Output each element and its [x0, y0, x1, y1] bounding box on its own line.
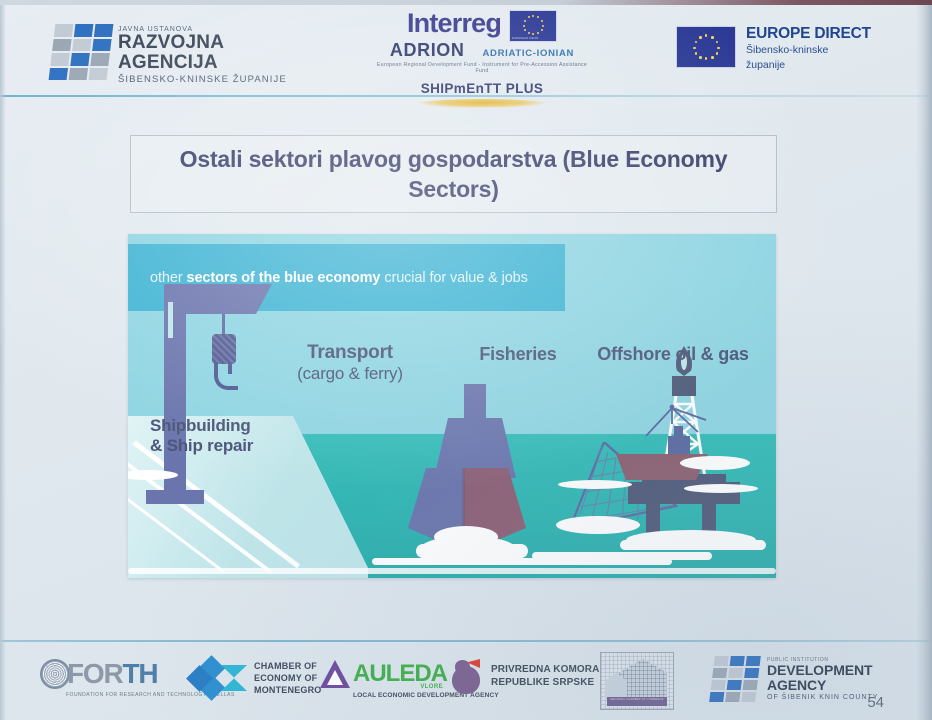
- coem-line3: MONTENEGRO: [254, 684, 322, 696]
- pkrs-line1: PRIVREDNA KOMORA: [491, 663, 599, 677]
- rig-foam: [620, 540, 766, 550]
- forth-wordmark: FORTH: [67, 658, 157, 690]
- coem-diamond-icon: [196, 656, 246, 700]
- logo-auleda: AULEDA VLORE LOCAL ECONOMIC DEVELOPMENT …: [320, 658, 447, 690]
- wave: [128, 568, 776, 574]
- house-icon: REGIONAL CHAMBER OF COMMERCE: [600, 652, 674, 710]
- adrion-wordmark: ADRION: [390, 40, 465, 61]
- label-shipbuilding-line1: Shipbuilding: [150, 416, 253, 436]
- net-foam: [556, 516, 640, 534]
- label-transport-sub: (cargo & ferry): [280, 364, 420, 384]
- fishing-boat-rigging: [610, 402, 720, 450]
- auleda-wordmark: AULEDA: [353, 662, 447, 686]
- development-agency-subline: OF ŠIBENIK KNIN COUNTY: [767, 694, 932, 701]
- pkrs-line2: REPUBLIKE SRPSKE: [491, 676, 599, 690]
- razvojna-agencija-name: RAZVOJNA AGENCIJA: [118, 33, 292, 73]
- europe-direct-title: EUROPE DIRECT: [746, 26, 871, 42]
- development-agency-grid-icon: [709, 656, 761, 702]
- logo-privredna-komora-republike-srpske: PRIVREDNA KOMORA REPUBLIKE SRPSKE: [452, 658, 599, 694]
- razvojna-agencija-subline: ŠIBENSKO-KNINSKE ŽUPANIJE: [118, 74, 292, 85]
- label-transport-main: Transport: [280, 342, 420, 364]
- europe-direct-subline-1: Šibensko-kninske: [746, 44, 871, 57]
- banner-suffix: crucial for value & jobs: [380, 270, 527, 286]
- label-fisheries: Fisheries: [458, 344, 578, 365]
- page-number: 54: [867, 694, 884, 711]
- house-caption-bar: REGIONAL CHAMBER OF COMMERCE: [607, 697, 667, 706]
- label-shipbuilding: Shipbuilding & Ship repair: [150, 416, 253, 456]
- eu-flag-icon: EUROPEAN UNION: [509, 10, 557, 42]
- presentation-slide: JAVNA USTANOVA RAZVOJNA AGENCIJA ŠIBENSK…: [0, 0, 932, 720]
- auleda-city: VLORE: [420, 684, 443, 690]
- fishing-boat-foam: [680, 456, 750, 470]
- coem-line2: ECONOMY OF: [254, 672, 322, 684]
- forth-word-part1: FOR: [67, 658, 123, 689]
- adriatic-ionian-label: ADRIATIC-IONIAN: [483, 48, 575, 59]
- header-divider: [0, 95, 932, 97]
- logo-interreg-adrion: Interreg EUROPEAN UNION ADRION ADRIATIC-…: [372, 10, 592, 96]
- label-transport: Transport (cargo & ferry): [280, 342, 420, 384]
- wave: [532, 552, 712, 560]
- label-offshore-oil-gas: Offshore oil & gas: [578, 344, 768, 365]
- house-caption: REGIONAL CHAMBER OF COMMERCE: [607, 697, 667, 701]
- logo-chamber-house-institute: REGIONAL CHAMBER OF COMMERCE: [600, 652, 674, 710]
- label-shipbuilding-line2: & Ship repair: [150, 436, 253, 456]
- europe-direct-subline-2: županije: [746, 59, 871, 72]
- slide-footer: FORTH FOUNDATION FOR RESEARCH AND TECHNO…: [0, 646, 932, 720]
- swoosh-icon: [417, 99, 547, 108]
- interreg-fund-line: European Regional Development Fund - Ins…: [372, 62, 592, 74]
- slide-title-box: Ostali sektori plavog gospodarstva (Blue…: [130, 135, 777, 213]
- blue-economy-illustration: other sectors of the blue economy crucia…: [128, 234, 776, 578]
- development-agency-name: DEVELOPMENT AGENCY: [767, 663, 932, 692]
- eu-flag-caption: EUROPEAN UNION: [512, 37, 538, 40]
- auleda-mountain-icon: [320, 658, 350, 690]
- screen-edge-left: [0, 0, 6, 720]
- page-title: Ostali sektori plavog gospodarstva (Blue…: [131, 144, 776, 205]
- logo-development-agency-sibenik-knin: PUBLIC INSTITUTION DEVELOPMENT AGENCY OF…: [712, 656, 932, 702]
- logo-forth: FORTH FOUNDATION FOR RESEARCH AND TECHNO…: [40, 658, 157, 690]
- banner-text: other sectors of the blue economy crucia…: [128, 270, 528, 286]
- forth-word-part2: TH: [123, 658, 158, 689]
- screen-edge-top: [0, 0, 932, 5]
- pkrs-bird-icon: [452, 658, 484, 694]
- screen-edge-right: [916, 0, 932, 720]
- eu-flag-icon: [676, 26, 736, 68]
- banner-prefix: other: [150, 270, 186, 286]
- wave: [684, 484, 758, 493]
- footer-divider: [0, 640, 932, 642]
- coem-line1: CHAMBER OF: [254, 660, 322, 672]
- logo-razvojna-agencija: JAVNA USTANOVA RAZVOJNA AGENCIJA ŠIBENSK…: [52, 22, 292, 82]
- logo-chamber-of-economy-of-montenegro: CHAMBER OF ECONOMY OF MONTENEGRO: [196, 656, 322, 700]
- wave: [558, 480, 632, 489]
- forth-globe-icon: [40, 659, 70, 689]
- razvojna-agencija-grid-icon: [49, 24, 114, 80]
- slide-header: JAVNA USTANOVA RAZVOJNA AGENCIJA ŠIBENSK…: [0, 4, 932, 96]
- banner-bold: sectors of the blue economy: [186, 270, 380, 286]
- coem-name: CHAMBER OF ECONOMY OF MONTENEGRO: [254, 660, 322, 696]
- logo-europe-direct: EUROPE DIRECT Šibensko-kninske županije: [676, 26, 906, 84]
- pkrs-name: PRIVREDNA KOMORA REPUBLIKE SRPSKE: [491, 663, 599, 690]
- project-name-shipmentt-plus: SHIPmEnTT PLUS: [372, 81, 592, 96]
- interreg-wordmark: Interreg: [407, 10, 501, 37]
- ship-foam: [416, 544, 528, 558]
